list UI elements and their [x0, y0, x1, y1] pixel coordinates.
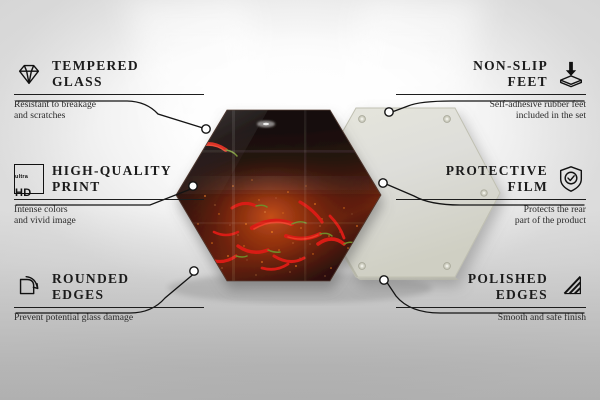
divider	[14, 94, 204, 95]
feature-header: ROUNDEDEDGES	[14, 271, 204, 302]
feature-header: POLISHEDEDGES	[396, 271, 586, 302]
diagonal-stripes-icon	[556, 272, 586, 302]
feature-polished-edges: POLISHEDEDGES Smooth and safe finish	[396, 271, 586, 323]
feature-title: PROTECTIVEFILM	[446, 163, 548, 194]
rounded-corner-icon	[14, 272, 44, 302]
feature-header: ultra HD HIGH-QUALITYPRINT	[14, 163, 204, 194]
feature-protective-film: PROTECTIVEFILM Protects the rearpart of …	[396, 163, 586, 227]
feature-non-slip-feet: NON-SLIPFEET Self-adhesive rubber feetin…	[396, 58, 586, 122]
divider	[396, 94, 586, 95]
ultra-hd-badge-icon: ultra HD	[14, 164, 44, 194]
feature-description: Prevent potential glass damage	[14, 312, 204, 323]
diamond-icon	[14, 59, 44, 89]
feature-title: ROUNDEDEDGES	[52, 271, 129, 302]
badge-top-label: ultra	[15, 174, 28, 180]
feature-title: HIGH-QUALITYPRINT	[52, 163, 172, 194]
divider	[14, 307, 204, 308]
feature-description: Intense colorsand vivid image	[14, 204, 204, 227]
feature-description: Smooth and safe finish	[396, 312, 586, 323]
feature-title: POLISHEDEDGES	[468, 271, 548, 302]
feature-high-quality-print: ultra HD HIGH-QUALITYPRINT Intense color…	[14, 163, 204, 227]
feature-description: Protects the rearpart of the product	[396, 204, 586, 227]
divider	[14, 199, 204, 200]
badge-bottom-label: HD	[15, 187, 32, 199]
divider	[396, 307, 586, 308]
infographic-canvas: TEMPEREDGLASS Resistant to breakageand s…	[0, 0, 600, 400]
feature-rounded-edges: ROUNDEDEDGES Prevent potential glass dam…	[14, 271, 204, 323]
feature-tempered-glass: TEMPEREDGLASS Resistant to breakageand s…	[14, 58, 204, 122]
feature-title: NON-SLIPFEET	[473, 58, 548, 89]
divider	[396, 199, 586, 200]
shield-check-icon	[556, 164, 586, 194]
feature-header: TEMPEREDGLASS	[14, 58, 204, 89]
feature-header: PROTECTIVEFILM	[396, 163, 586, 194]
feature-header: NON-SLIPFEET	[396, 58, 586, 89]
feature-description: Resistant to breakageand scratches	[14, 99, 204, 122]
press-down-pad-icon	[556, 59, 586, 89]
feature-title: TEMPEREDGLASS	[52, 58, 139, 89]
feature-description: Self-adhesive rubber feetincluded in the…	[396, 99, 586, 122]
